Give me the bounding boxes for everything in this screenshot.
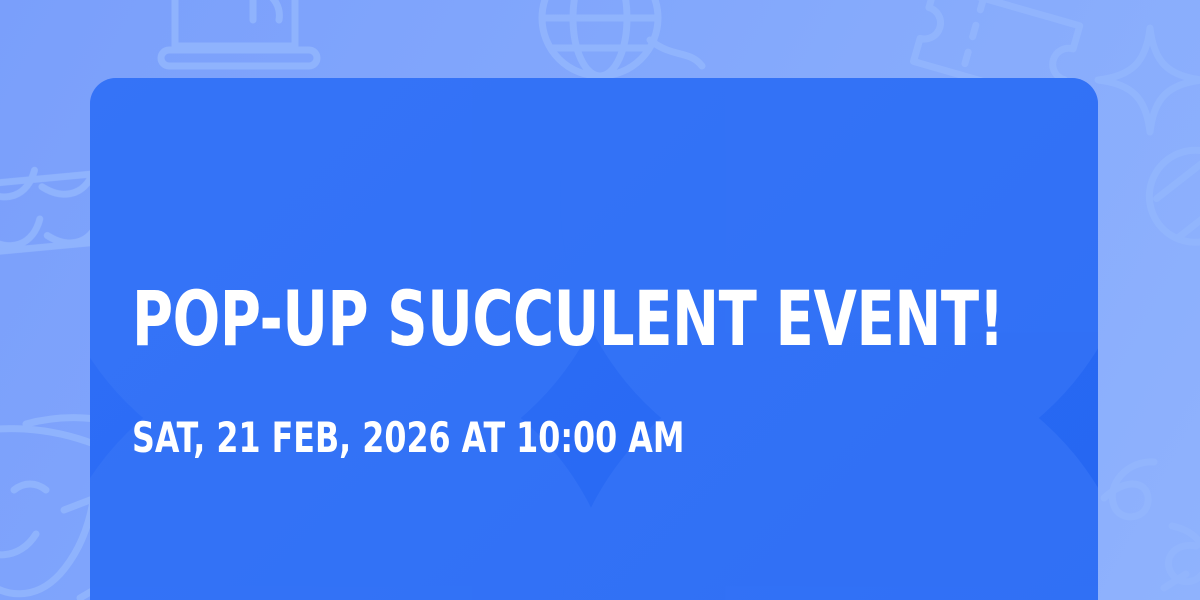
balloon-icon	[1104, 462, 1200, 582]
sparkle-icon	[1098, 28, 1200, 132]
event-title: Pop-Up Succulent Event!	[132, 278, 1004, 360]
laptop-icon	[161, 0, 317, 66]
event-datetime: Sat, 21 Feb, 2026 at 10:00 AM	[132, 414, 684, 462]
card-content: Pop-Up Succulent Event! Sat, 21 Feb, 202…	[132, 78, 1062, 600]
event-banner: Pop-Up Succulent Event! Sat, 21 Feb, 202…	[0, 0, 1200, 600]
event-card: Pop-Up Succulent Event! Sat, 21 Feb, 202…	[90, 78, 1098, 600]
streamer-icon	[650, 40, 702, 66]
globe-icon	[542, 0, 658, 76]
microphone-icon	[1131, 132, 1200, 307]
